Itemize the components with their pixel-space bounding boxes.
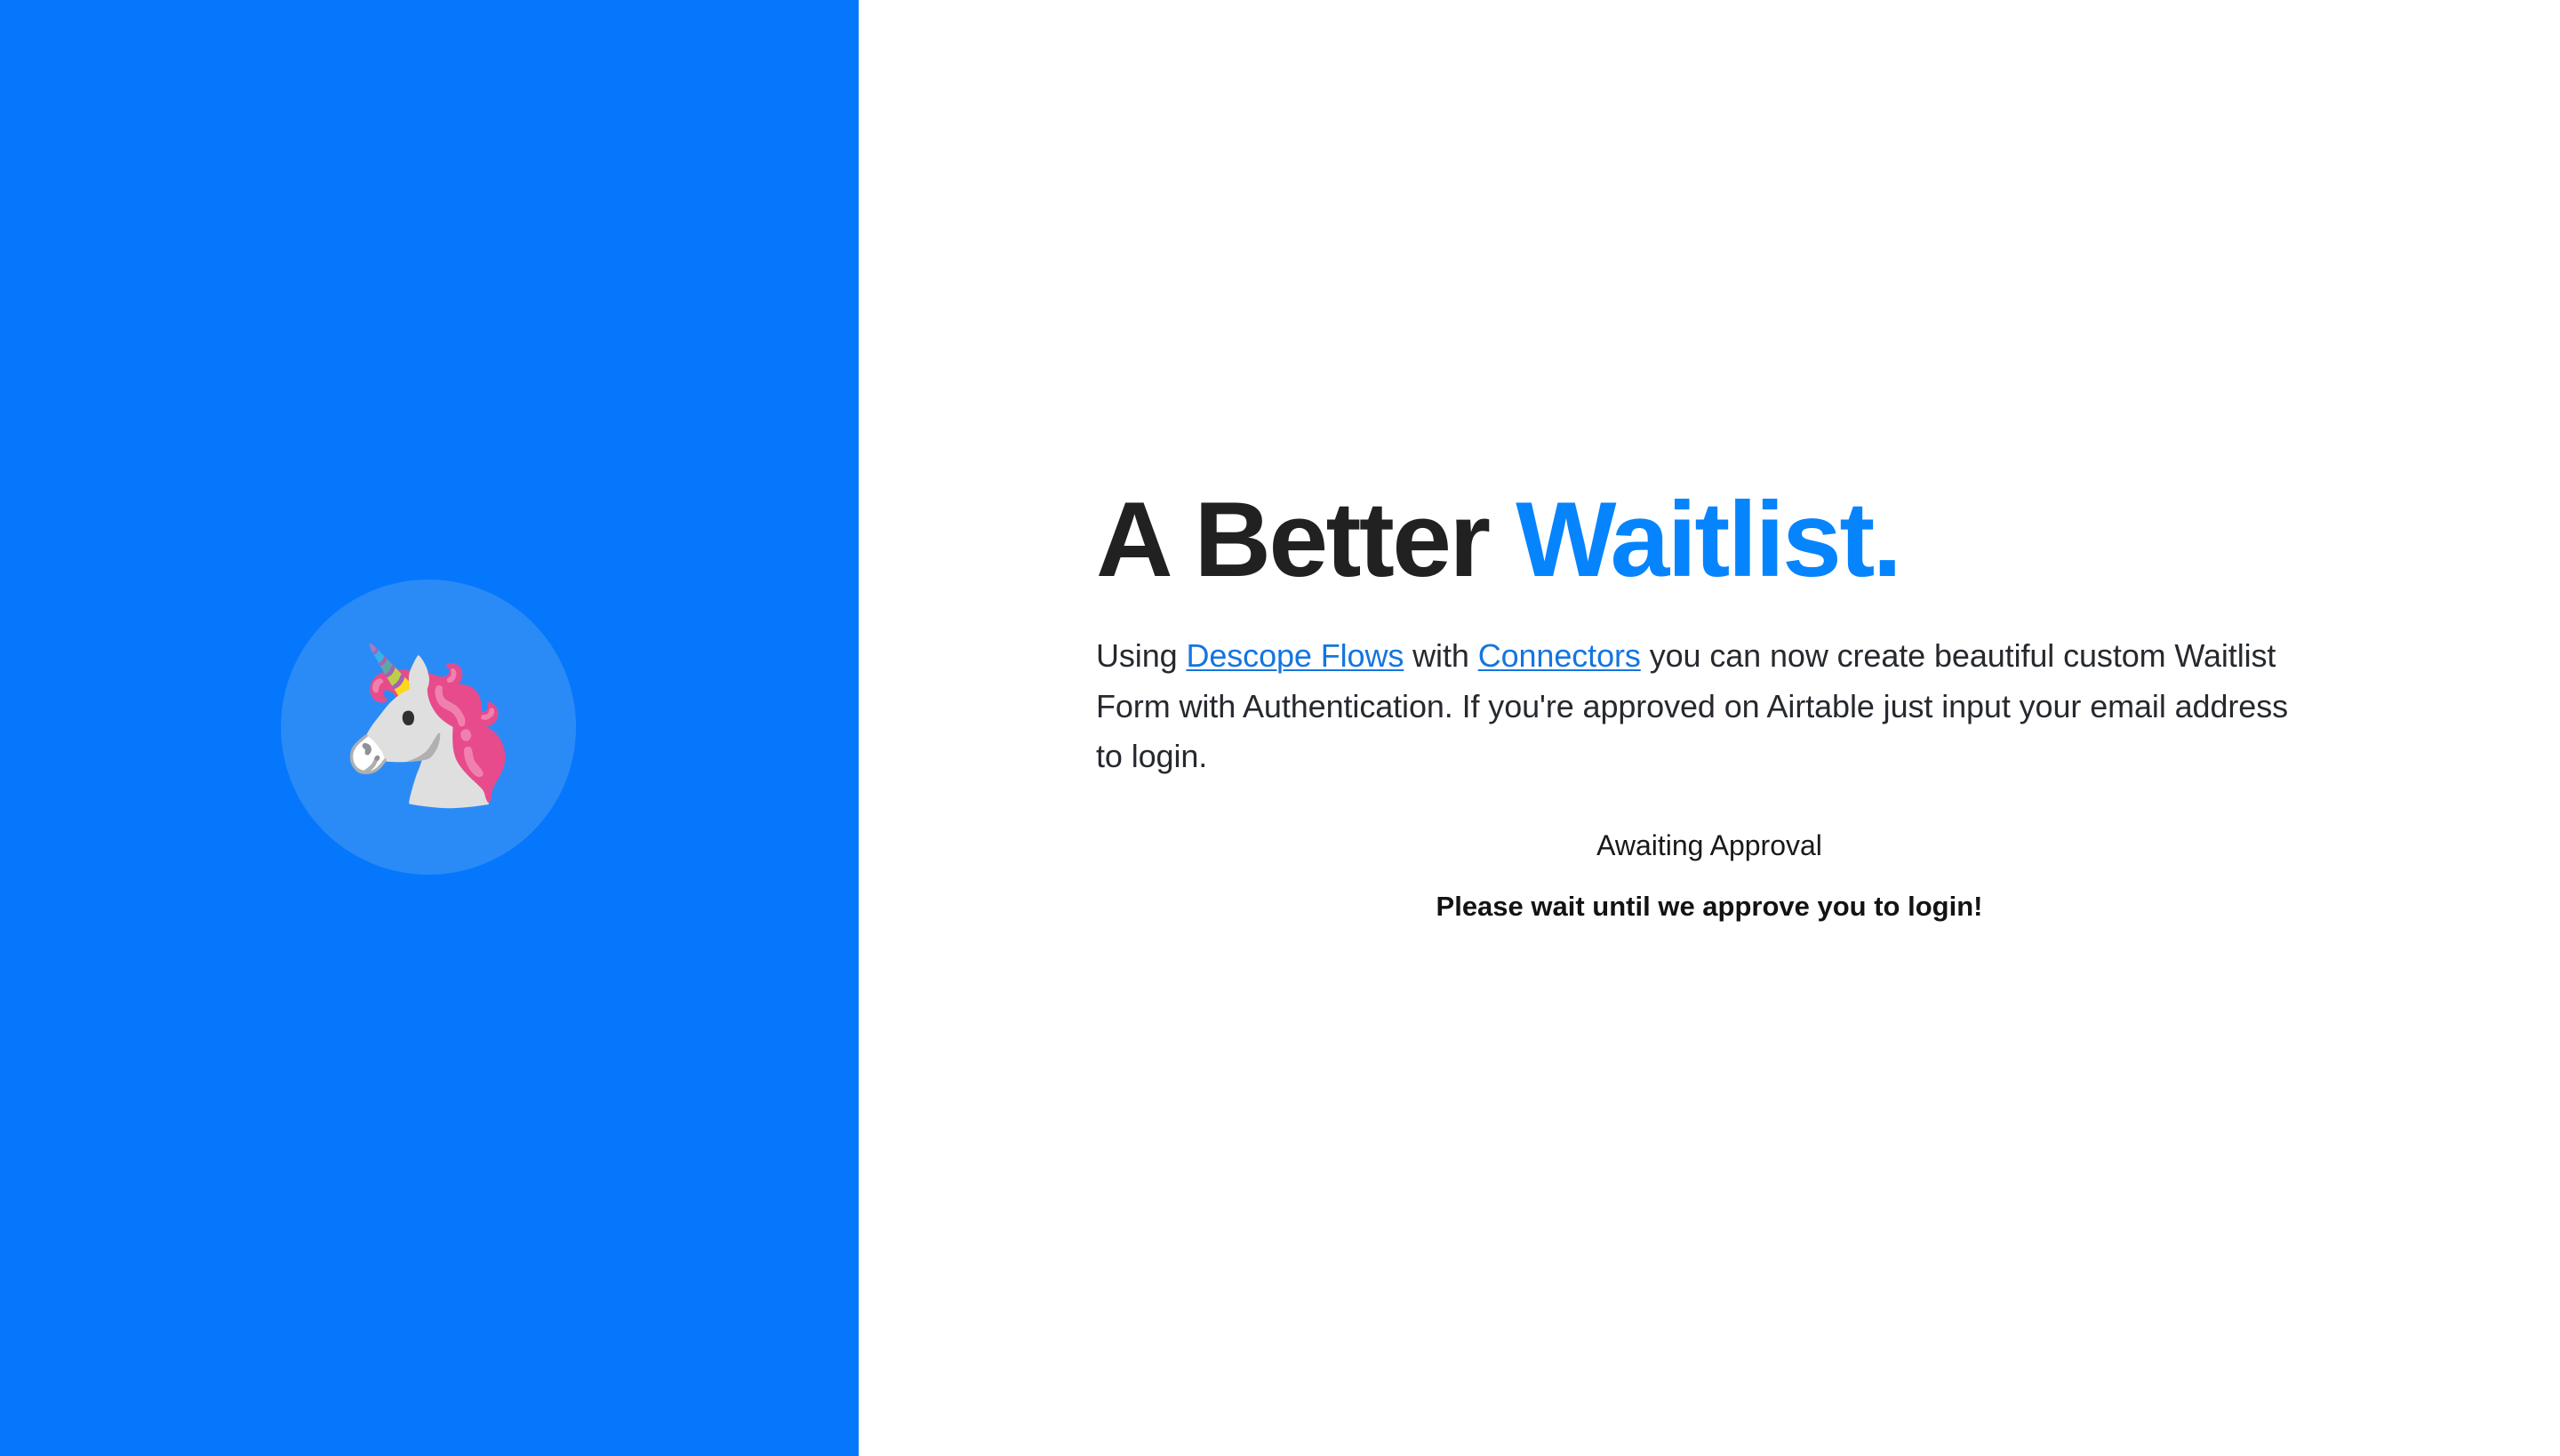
descope-flows-link[interactable]: Descope Flows <box>1186 637 1404 674</box>
intro-paragraph: Using Descope Flows with Connectors you … <box>1096 631 2323 780</box>
brand-panel: 🦄 <box>0 0 859 1456</box>
page-title-lead: A Better <box>1096 480 1516 599</box>
page-title: A Better Waitlist. <box>1096 480 2323 599</box>
status-title: Awaiting Approval <box>1096 828 2323 865</box>
content-panel: A Better Waitlist. Using Descope Flows w… <box>859 0 2560 1456</box>
page-title-accent: Waitlist. <box>1516 480 1900 599</box>
intro-segment-1: Using <box>1096 637 1186 674</box>
avatar-circle: 🦄 <box>281 580 576 875</box>
unicorn-emoji-icon: 🦄 <box>333 649 524 802</box>
intro-segment-2: with <box>1404 637 1477 674</box>
waitlist-page: 🦄 A Better Waitlist. Using Descope Flows… <box>0 0 2560 1456</box>
status-block: Awaiting Approval Please wait until we a… <box>1096 828 2323 925</box>
content-container: A Better Waitlist. Using Descope Flows w… <box>1096 480 2323 925</box>
avatar: 🦄 <box>281 580 576 875</box>
connectors-link[interactable]: Connectors <box>1478 637 1641 674</box>
status-note: Please wait until we approve you to logi… <box>1096 889 2323 924</box>
